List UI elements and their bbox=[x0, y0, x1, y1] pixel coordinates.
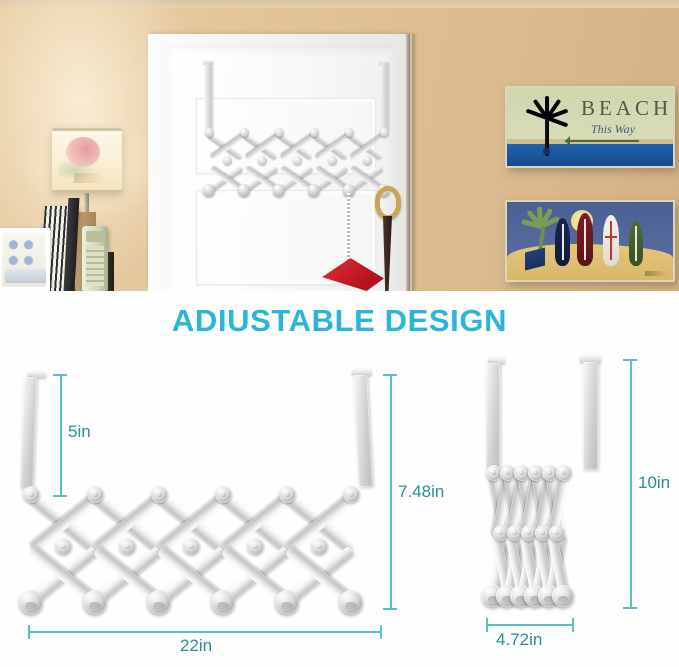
rack-hook bbox=[275, 590, 299, 614]
rack-joint bbox=[380, 128, 389, 137]
rack-hook bbox=[273, 184, 285, 196]
door-strap-left bbox=[20, 377, 37, 489]
rack-hook bbox=[339, 590, 363, 614]
dim-cap bbox=[28, 625, 30, 639]
frame-photo bbox=[5, 269, 49, 283]
rack-joint bbox=[328, 156, 337, 165]
rack-hook bbox=[552, 585, 574, 607]
rack-joint-top bbox=[151, 486, 168, 503]
coconut-icon bbox=[543, 148, 550, 155]
surfboard-icon bbox=[577, 213, 593, 266]
door-strap-left bbox=[205, 63, 212, 131]
phone-keypad bbox=[86, 246, 104, 286]
door-shadow bbox=[410, 34, 417, 291]
rack-joint-top bbox=[343, 486, 360, 503]
rack-hook bbox=[19, 590, 43, 614]
bag-chain-strap bbox=[347, 193, 350, 265]
dim-label-4.72in: 4.72in bbox=[496, 630, 542, 650]
dimension-diagram-section: ADIUSTABLE DESIGN bbox=[0, 291, 679, 667]
surfboard-icon bbox=[603, 215, 619, 266]
rack-joint bbox=[205, 128, 214, 137]
dim-label-5in: 5in bbox=[68, 422, 91, 442]
dim-cap bbox=[486, 618, 488, 632]
door-strap-right bbox=[381, 63, 388, 131]
rack-joint-mid bbox=[183, 538, 200, 555]
door-strap-right bbox=[583, 362, 598, 470]
rack-joint bbox=[363, 156, 372, 165]
dim-line-4.72in bbox=[486, 624, 574, 626]
dim-cap bbox=[383, 608, 397, 610]
dim-label-22in: 22in bbox=[180, 636, 212, 656]
dim-cap bbox=[623, 607, 637, 609]
door-strap-left bbox=[486, 363, 500, 469]
sign-subtext: This Way bbox=[591, 122, 635, 137]
sign-ocean-band bbox=[507, 144, 673, 166]
phone-screen bbox=[86, 231, 104, 242]
dim-label-10in: 10in bbox=[638, 473, 670, 493]
rack-hook bbox=[147, 590, 171, 614]
dim-cap bbox=[53, 374, 67, 376]
rack-joint bbox=[223, 156, 232, 165]
rack-joint bbox=[310, 128, 319, 137]
rack-joint bbox=[240, 128, 249, 137]
beach-sign-art: BEACH This Way bbox=[505, 86, 675, 168]
shade-flower-motif bbox=[66, 137, 100, 167]
collapsed-rack-diagram: 10in 4.72in bbox=[430, 291, 679, 667]
rack-joint-mid bbox=[55, 538, 72, 555]
cordless-phone bbox=[82, 226, 108, 291]
gold-ring-handle bbox=[375, 186, 401, 220]
surfboard-icon bbox=[555, 218, 570, 266]
rack-joint-mid bbox=[119, 538, 136, 555]
rack-joint-mid bbox=[311, 538, 328, 555]
rack-joint bbox=[275, 128, 284, 137]
rack-joint bbox=[293, 156, 302, 165]
rack-joint-top bbox=[87, 486, 104, 503]
shade-script-motif bbox=[74, 173, 104, 183]
rack-joint-top bbox=[215, 486, 232, 503]
rack-hook bbox=[211, 590, 235, 614]
photo-frame bbox=[0, 228, 50, 291]
sign-heading: BEACH bbox=[581, 96, 672, 121]
rack-hook bbox=[83, 590, 107, 614]
rack-hook bbox=[238, 184, 250, 196]
dim-line-10in bbox=[630, 359, 632, 609]
rack-hook bbox=[203, 184, 215, 196]
rack-joint-top bbox=[556, 465, 572, 481]
dim-cap bbox=[53, 495, 67, 497]
installed-rack bbox=[183, 60, 398, 195]
rack-joint-top bbox=[279, 486, 296, 503]
dim-cap bbox=[383, 374, 397, 376]
dim-cap bbox=[623, 359, 637, 361]
rack-joint-mid bbox=[247, 538, 264, 555]
left-arrow-icon bbox=[565, 140, 639, 142]
rack-joint-mid bbox=[549, 525, 565, 541]
product-infographic: BEACH This Way ADIUSTABLE DES bbox=[0, 0, 679, 667]
rack-joint bbox=[345, 128, 354, 137]
lifestyle-photo: BEACH This Way bbox=[0, 0, 679, 291]
dim-line-7.48in bbox=[390, 374, 392, 610]
dim-cap bbox=[572, 618, 574, 632]
door-strap-right bbox=[353, 375, 373, 487]
expanded-rack-diagram: 5in 7.48in 22in bbox=[0, 291, 430, 667]
rack-joint-top bbox=[23, 486, 40, 503]
lamp-shade bbox=[52, 128, 122, 193]
rack-joint bbox=[258, 156, 267, 165]
surfboard-painting-art bbox=[505, 200, 675, 282]
dim-line-22in bbox=[28, 631, 382, 633]
artist-signature bbox=[645, 271, 667, 276]
dim-cap bbox=[380, 625, 382, 639]
rack-hook bbox=[308, 184, 320, 196]
surfboard-icon bbox=[629, 221, 643, 266]
dim-line-5in bbox=[60, 374, 62, 496]
